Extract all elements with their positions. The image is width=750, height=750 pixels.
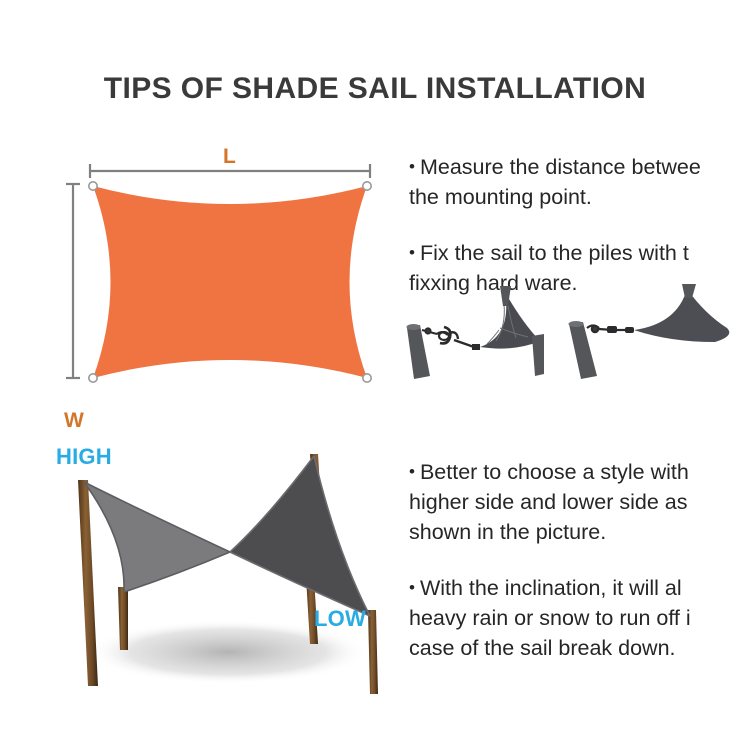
low-side-label: LOW [314, 608, 366, 630]
tip-line-text: the mounting point. [409, 182, 750, 212]
tip-line-text: Fix the sail to the piles with t [420, 241, 689, 265]
sail-strap-icon [682, 284, 696, 298]
width-dimension-line [66, 184, 80, 378]
bullet-icon: • [409, 457, 415, 487]
tip-line-text: case of the sail break down. [409, 633, 750, 663]
tip-line: •Better to choose a style with [409, 457, 750, 487]
rectangular-sail-figure: L W [60, 140, 400, 402]
tips-bottom-text: •Better to choose a style with higher si… [409, 457, 750, 663]
width-label: W [64, 410, 84, 431]
tip-line-text: higher side and lower side as [409, 487, 750, 517]
tip-line: •Fix the sail to the piles with t [409, 238, 750, 268]
bullet-icon: • [409, 152, 415, 182]
pole-left-tall [78, 480, 98, 686]
tip-paragraph: •With the inclination, it will al heavy … [409, 573, 750, 663]
fixing-hardware-icon [587, 326, 634, 334]
inclined-sails-figure: HIGH LOW [18, 432, 410, 712]
infographic-canvas: TIPS OF SHADE SAIL INSTALLATION [0, 0, 750, 750]
tip-line-text: Better to choose a style with [420, 460, 689, 484]
sail-corner-shape [480, 292, 540, 349]
sail-dark [230, 456, 370, 616]
sail-shape [93, 186, 367, 378]
tip-line: •With the inclination, it will al [409, 573, 750, 603]
tip-line: •Measure the distance betwee [409, 152, 750, 182]
bullet-icon: • [409, 573, 415, 603]
tip-paragraph: •Better to choose a style with higher si… [409, 457, 750, 547]
tip-paragraph: •Measure the distance betwee the mountin… [409, 152, 750, 212]
tip-line-text: shown in the picture. [409, 517, 750, 547]
sail-light [84, 482, 230, 592]
fixing-hardware-icon [422, 327, 480, 350]
pole-far-right [368, 610, 378, 694]
length-label: L [223, 146, 236, 167]
tip-line-text: heavy rain or snow to run off i [409, 603, 750, 633]
sail-corner-shape [634, 289, 729, 342]
high-side-label: HIGH [56, 446, 112, 468]
hardware-photo-right [565, 284, 750, 379]
hardware-photo-left [404, 284, 589, 379]
page-title: TIPS OF SHADE SAIL INSTALLATION [0, 72, 750, 106]
tip-line-text: With the inclination, it will al [420, 576, 682, 600]
tips-top-text: •Measure the distance betwee the mountin… [409, 152, 750, 298]
tip-line-text: Measure the distance betwee [420, 155, 701, 179]
bullet-icon: • [409, 238, 415, 268]
